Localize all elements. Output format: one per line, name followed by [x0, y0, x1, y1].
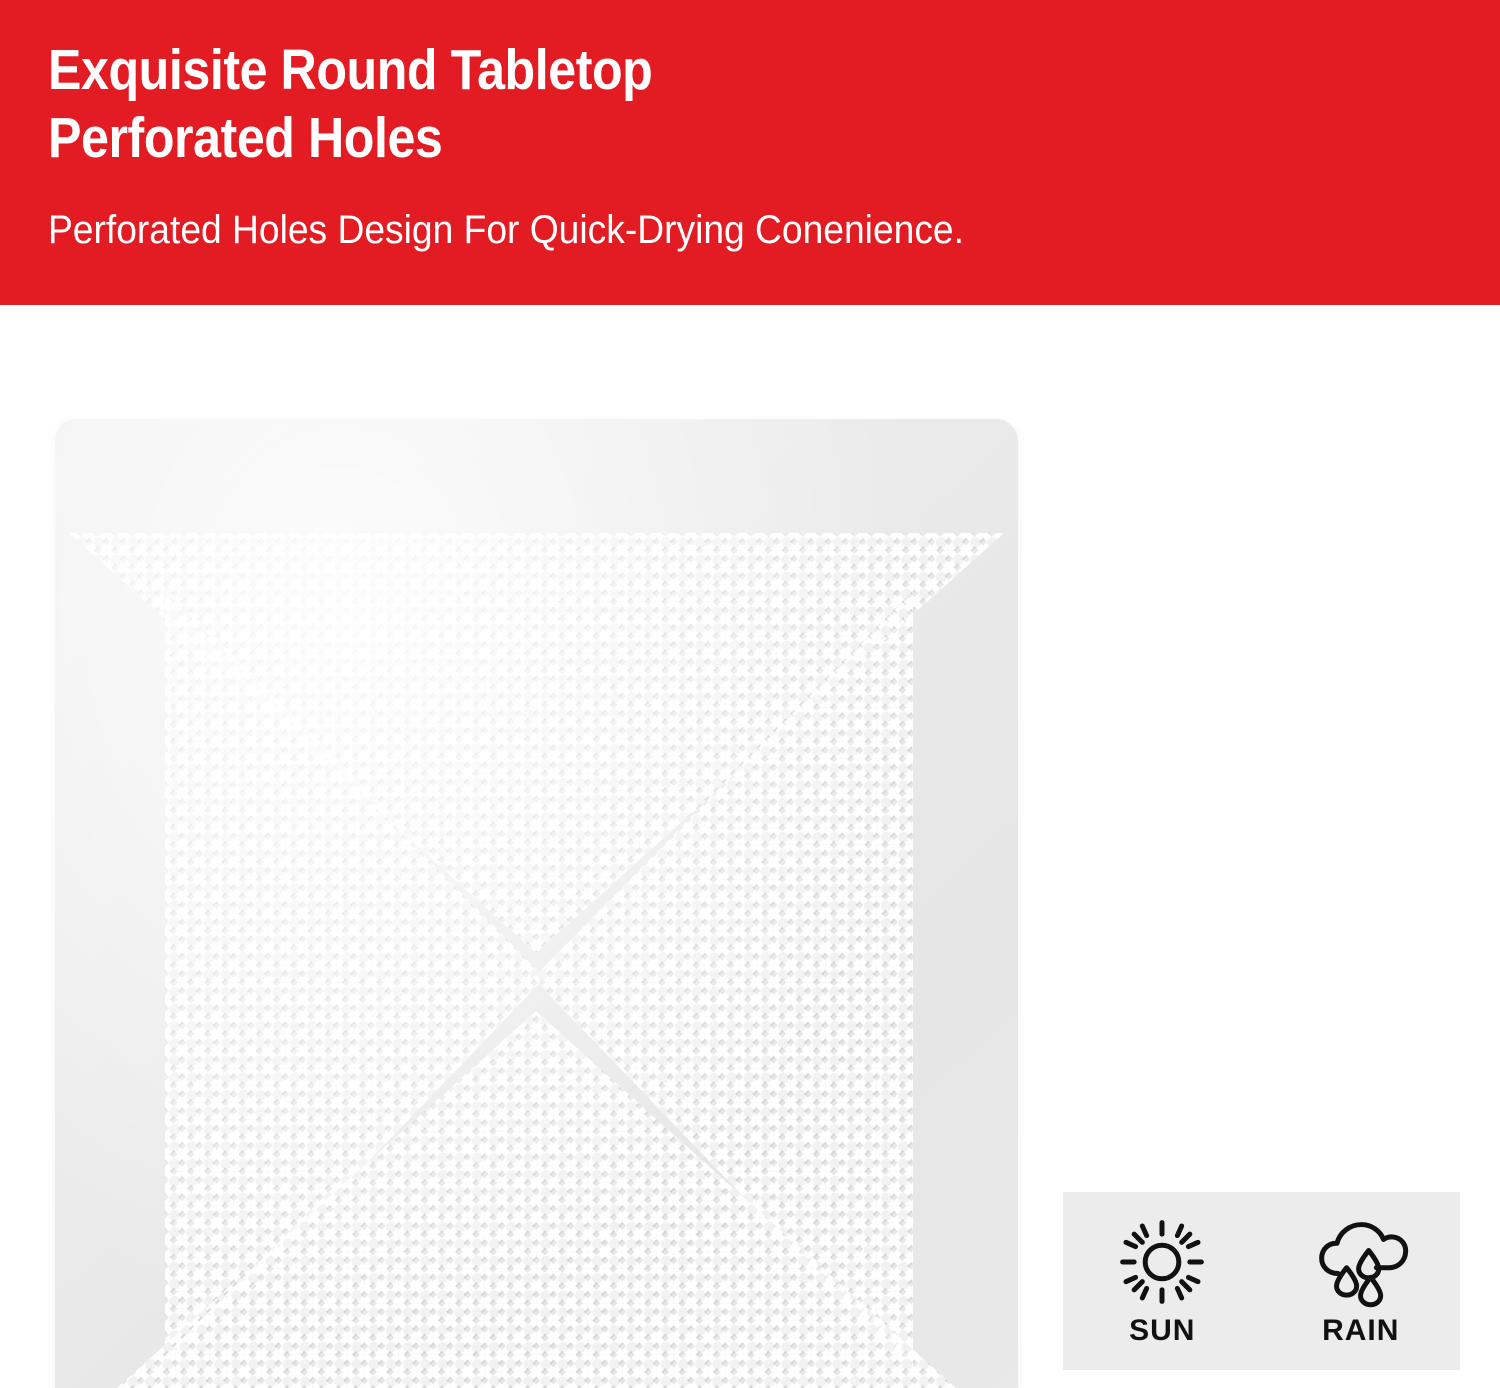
rain-cloud-icon: [1313, 1214, 1409, 1310]
weather-badge: SUN RAIN: [1063, 1192, 1460, 1370]
header-banner: Exquisite Round Tabletop Perforated Hole…: [0, 0, 1500, 305]
weather-label-sun: SUN: [1129, 1314, 1195, 1348]
page-subtitle: Perforated Holes Design For Quick-Drying…: [48, 206, 1350, 254]
weather-item-rain: RAIN: [1276, 1214, 1446, 1348]
sun-icon: [1114, 1214, 1210, 1310]
perforated-tabletop-panel: [55, 419, 1018, 1388]
product-photo: SUN RAIN: [0, 305, 1500, 1388]
page-title: Exquisite Round Tabletop Perforated Hole…: [48, 36, 1016, 172]
weather-item-sun: SUN: [1077, 1214, 1247, 1348]
weather-label-rain: RAIN: [1322, 1314, 1399, 1348]
